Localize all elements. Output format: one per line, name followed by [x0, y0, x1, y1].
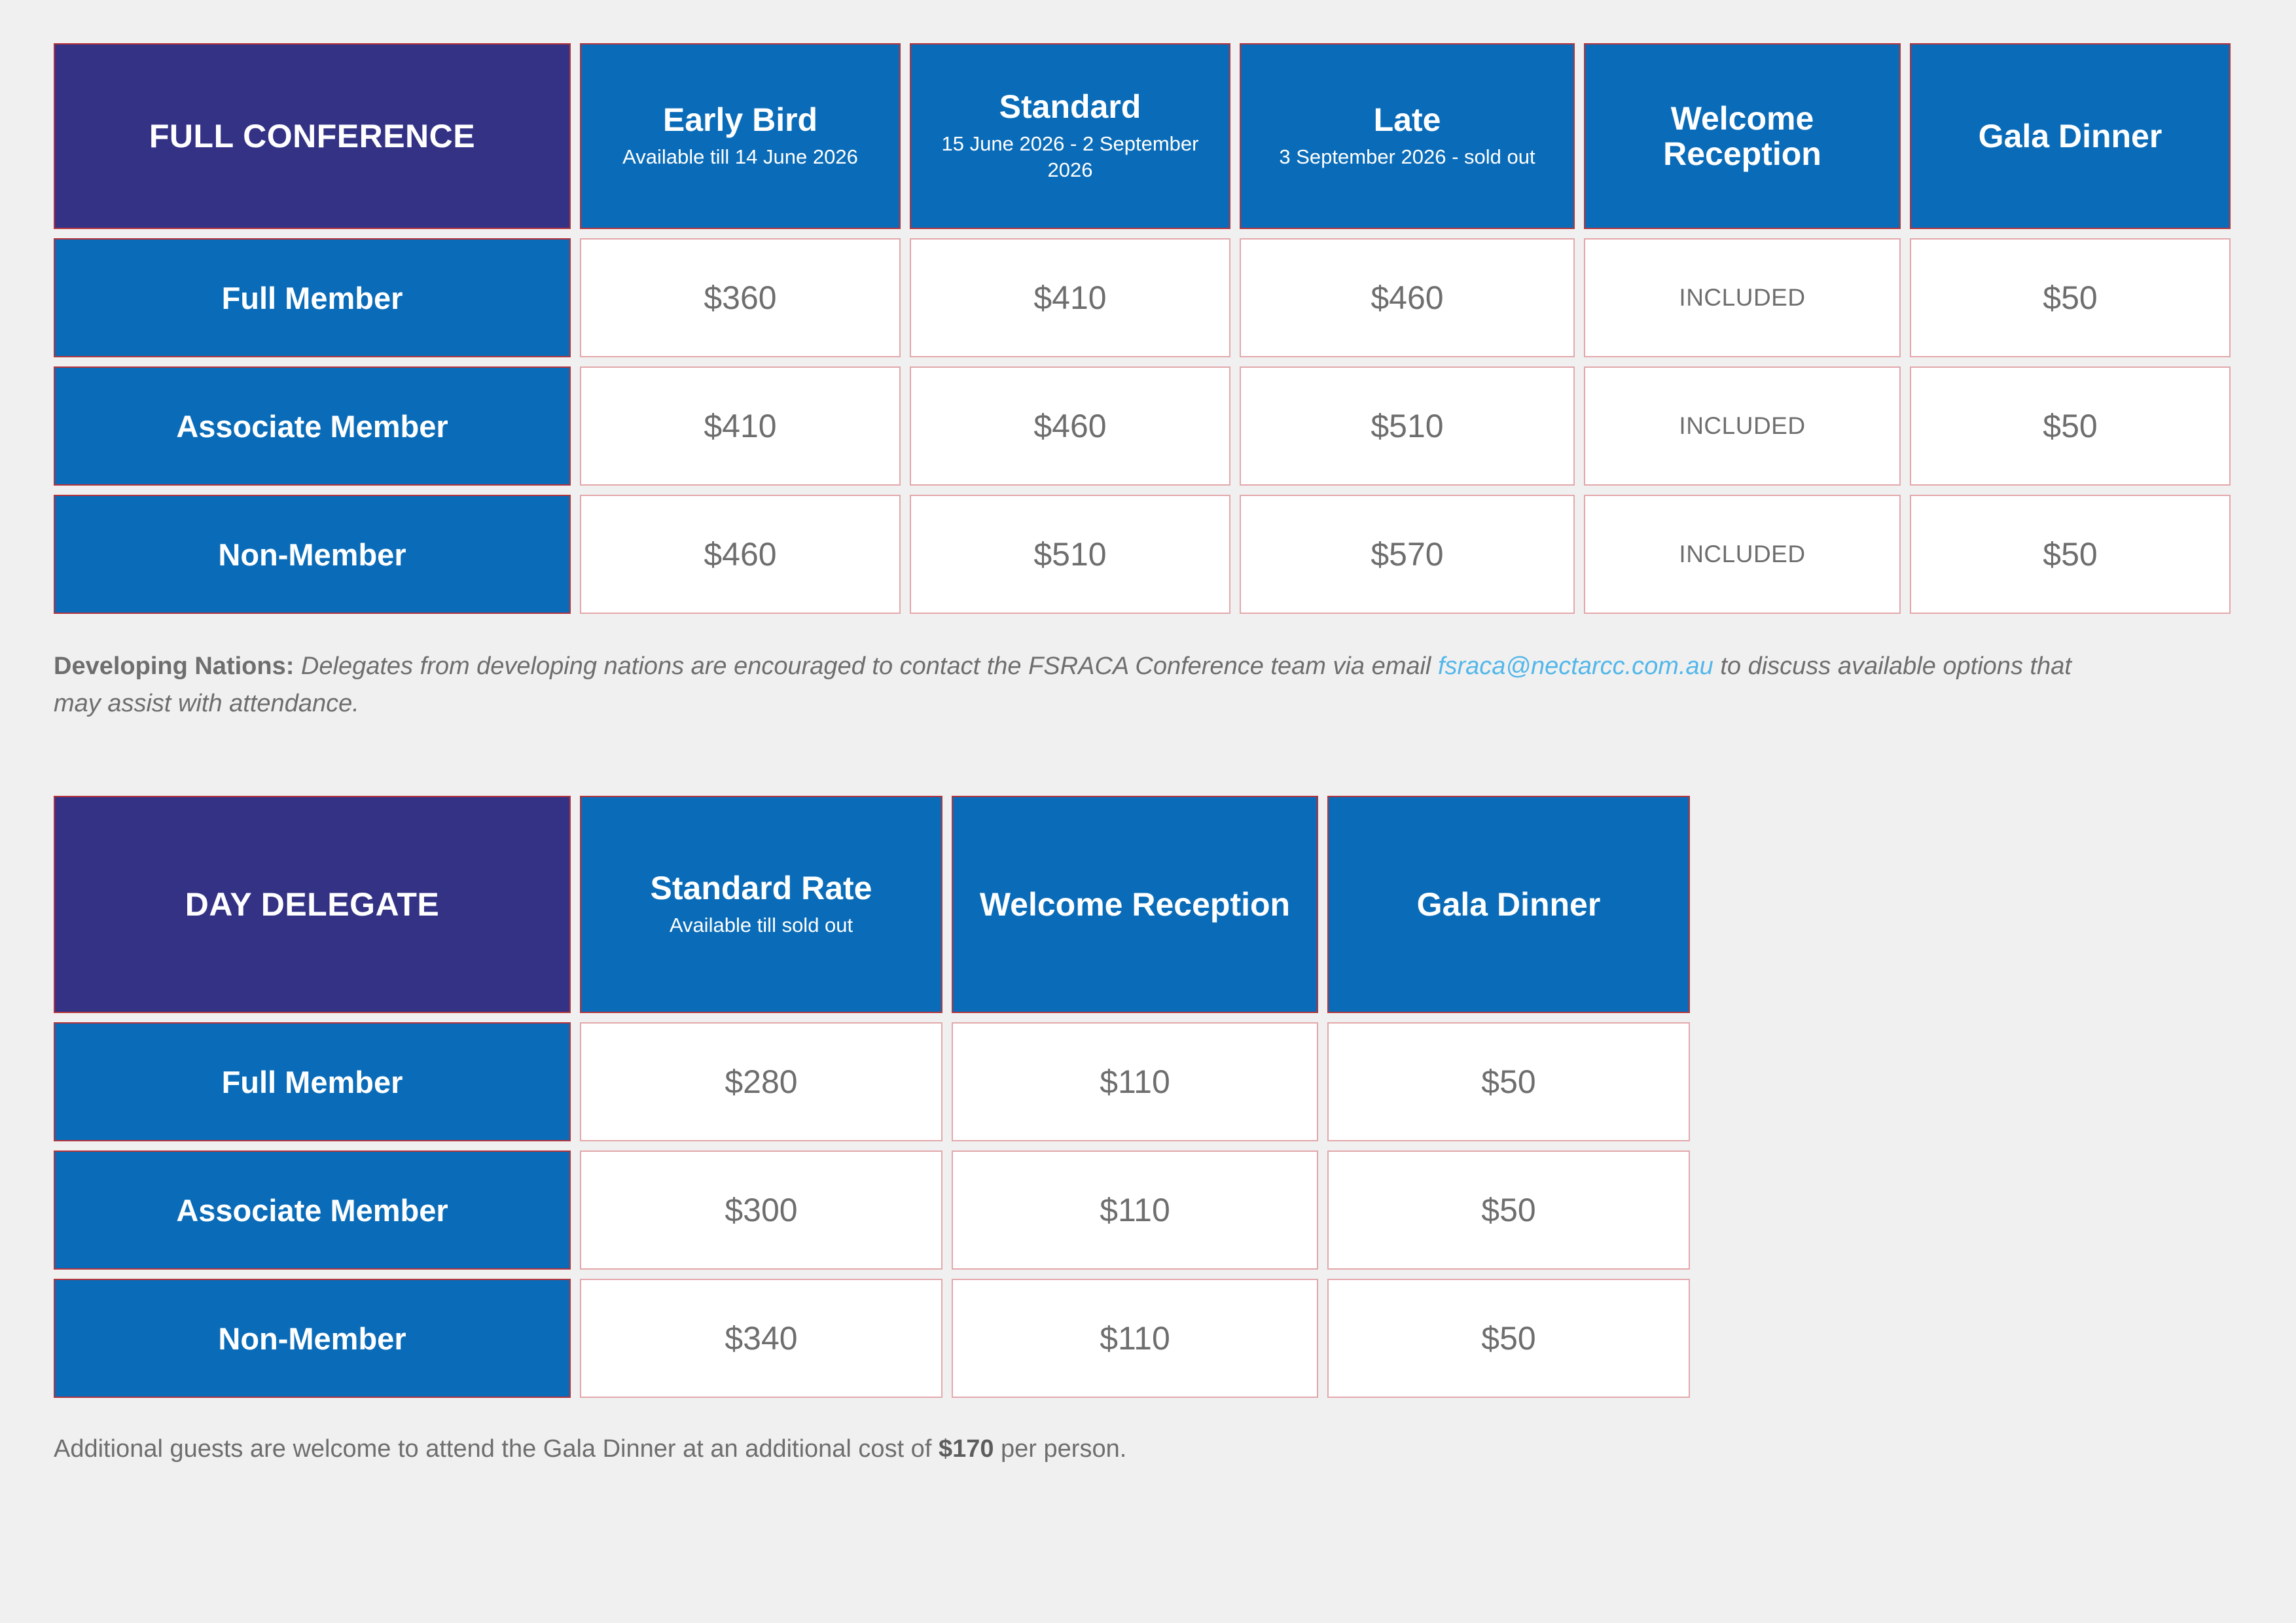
cell-value: $50 — [2043, 407, 2097, 445]
column-header-welcome-reception: Welcome Reception — [952, 796, 1318, 1013]
table-cell: $570 — [1240, 495, 1575, 614]
cell-value: $280 — [725, 1063, 797, 1101]
cell-value: $50 — [2043, 535, 2097, 573]
column-header-standard-rate: Standard Rate Available till sold out — [580, 796, 942, 1013]
table-cell: $510 — [1240, 366, 1575, 486]
column-header-title: Welcome Reception — [980, 887, 1290, 922]
table-cell: $50 — [1327, 1150, 1690, 1270]
cell-value: $460 — [1371, 279, 1443, 317]
cell-value: $50 — [1481, 1063, 1535, 1101]
row-label-non-member: Non-Member — [54, 495, 571, 614]
table-cell: $50 — [1327, 1279, 1690, 1398]
row-label-non-member: Non-Member — [54, 1279, 571, 1398]
developing-nations-label: Developing Nations: — [54, 652, 294, 680]
column-header-title: Standard — [999, 89, 1141, 124]
table-cell: $110 — [952, 1022, 1318, 1141]
row-label-full-member: Full Member — [54, 238, 571, 357]
gala-dinner-note: Additional guests are welcome to attend … — [54, 1431, 2096, 1468]
row-label-text: Associate Member — [176, 1192, 448, 1228]
pricing-page: FULL CONFERENCE Early Bird Available til… — [0, 0, 2296, 1623]
column-header-early-bird: Early Bird Available till 14 June 2026 — [580, 43, 901, 229]
cell-value: $360 — [704, 279, 776, 317]
full-conference-table: FULL CONFERENCE Early Bird Available til… — [54, 43, 2266, 614]
column-header-gala-dinner: Gala Dinner — [1327, 796, 1690, 1013]
row-label-full-member: Full Member — [54, 1022, 571, 1141]
column-header-title: Standard Rate — [651, 870, 872, 906]
day-delegate-title: DAY DELEGATE — [185, 887, 440, 923]
table-cell: $460 — [910, 366, 1230, 486]
row-label-text: Associate Member — [176, 408, 448, 444]
table-cell: $50 — [1327, 1022, 1690, 1141]
cell-value: $410 — [704, 407, 776, 445]
developing-nations-body-before: Delegates from developing nations are en… — [294, 652, 1438, 680]
column-header-title: Gala Dinner — [1417, 887, 1601, 922]
gala-note-after: per person. — [994, 1435, 1126, 1463]
column-header-welcome-reception: Welcome Reception — [1584, 43, 1901, 229]
column-header-title: Late — [1374, 102, 1441, 137]
developing-nations-email-link[interactable]: fsraca@nectarcc.com.au — [1438, 652, 1713, 680]
row-label-associate-member: Associate Member — [54, 366, 571, 486]
full-conference-title-cell: FULL CONFERENCE — [54, 43, 571, 229]
cell-value: $110 — [1100, 1063, 1170, 1101]
gala-note-amount: $170 — [939, 1435, 994, 1463]
table-cell: INCLUDED — [1584, 238, 1901, 357]
row-label-text: Non-Member — [218, 1321, 406, 1357]
cell-value: $50 — [2043, 279, 2097, 317]
column-header-subtitle: 3 September 2026 - sold out — [1279, 144, 1535, 170]
column-header-standard: Standard 15 June 2026 - 2 September 2026 — [910, 43, 1230, 229]
cell-value: $510 — [1371, 407, 1443, 445]
table-cell: $360 — [580, 238, 901, 357]
table-cell: INCLUDED — [1584, 366, 1901, 486]
table-cell: $50 — [1910, 238, 2231, 357]
day-delegate-title-cell: DAY DELEGATE — [54, 796, 571, 1013]
day-delegate-table: DAY DELEGATE Standard Rate Available til… — [54, 796, 1690, 1398]
row-label-text: Full Member — [222, 1064, 403, 1100]
gala-note-before: Additional guests are welcome to attend … — [54, 1435, 939, 1463]
cell-value: $510 — [1033, 535, 1106, 573]
table-cell: $510 — [910, 495, 1230, 614]
cell-value: $570 — [1371, 535, 1443, 573]
column-header-title: Welcome Reception — [1600, 101, 1885, 171]
cell-value: $50 — [1481, 1191, 1535, 1229]
developing-nations-note: Developing Nations: Delegates from devel… — [54, 648, 2096, 722]
cell-value: $300 — [725, 1191, 797, 1229]
column-header-subtitle: Available till 14 June 2026 — [622, 144, 858, 170]
table-cell: $50 — [1910, 366, 2231, 486]
cell-value: $110 — [1100, 1191, 1170, 1229]
column-header-subtitle: 15 June 2026 - 2 September 2026 — [925, 131, 1215, 184]
column-header-subtitle: Available till sold out — [670, 912, 853, 938]
cell-value: INCLUDED — [1679, 412, 1805, 440]
table-cell: $410 — [910, 238, 1230, 357]
table-cell: $300 — [580, 1150, 942, 1270]
table-cell: $280 — [580, 1022, 942, 1141]
table-spacer — [54, 722, 2296, 796]
cell-value: $460 — [1033, 407, 1106, 445]
cell-value: $50 — [1481, 1319, 1535, 1357]
cell-value: INCLUDED — [1679, 541, 1805, 568]
table-cell: $460 — [580, 495, 901, 614]
row-label-text: Non-Member — [218, 537, 406, 573]
cell-value: $340 — [725, 1319, 797, 1357]
column-header-gala-dinner: Gala Dinner — [1910, 43, 2231, 229]
row-label-associate-member: Associate Member — [54, 1150, 571, 1270]
table-cell: $410 — [580, 366, 901, 486]
table-cell: $110 — [952, 1150, 1318, 1270]
column-header-late: Late 3 September 2026 - sold out — [1240, 43, 1575, 229]
table-cell: INCLUDED — [1584, 495, 1901, 614]
cell-value: INCLUDED — [1679, 284, 1805, 312]
cell-value: $410 — [1033, 279, 1106, 317]
cell-value: $110 — [1100, 1319, 1170, 1357]
full-conference-title: FULL CONFERENCE — [149, 118, 475, 154]
table-cell: $50 — [1910, 495, 2231, 614]
cell-value: $460 — [704, 535, 776, 573]
row-label-text: Full Member — [222, 280, 403, 316]
column-header-title: Gala Dinner — [1979, 118, 2162, 154]
table-cell: $340 — [580, 1279, 942, 1398]
table-cell: $460 — [1240, 238, 1575, 357]
column-header-title: Early Bird — [663, 102, 817, 137]
table-cell: $110 — [952, 1279, 1318, 1398]
